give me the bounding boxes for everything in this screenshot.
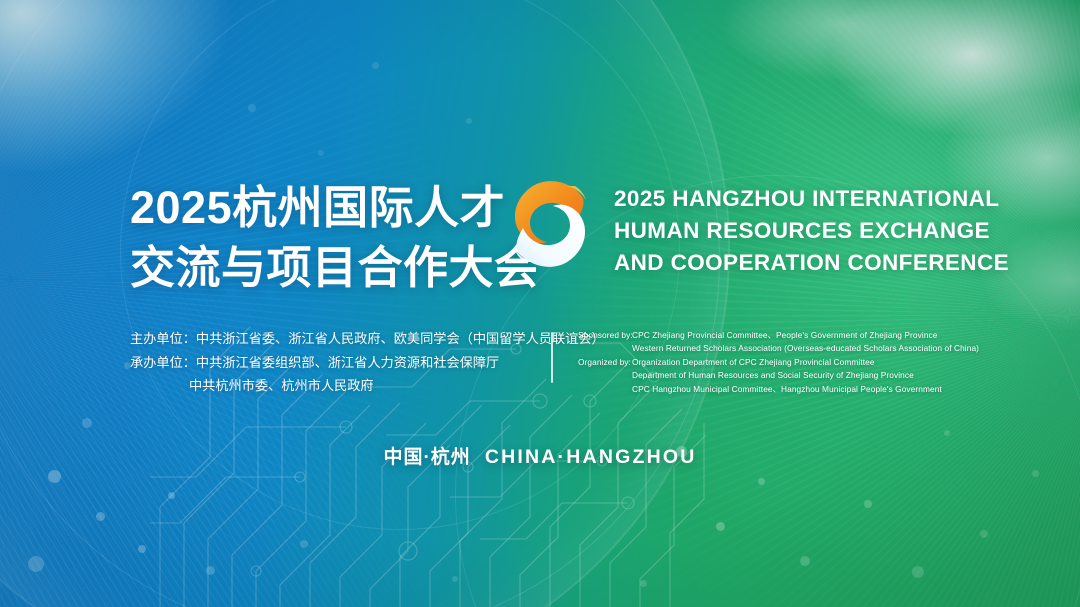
conference-poster: 2025杭州国际人才 交流与项目合作大会 (0, 0, 1080, 607)
title-english-line-1: 2025 HANGZHOU INTERNATIONAL (614, 183, 1009, 215)
sponsored-by-line-1: CPC Zhejiang Provincial Committee、People… (632, 330, 938, 340)
location-chinese: 中国·杭州 (383, 447, 470, 468)
location-english: CHINA·HANGZHOU (485, 446, 697, 468)
organized-by-line-1: Organization Department of CPC Zhejiang … (632, 357, 875, 367)
title-english: 2025 HANGZHOU INTERNATIONAL HUMAN RESOUR… (614, 183, 1009, 280)
vertical-divider (551, 332, 553, 383)
sponsored-by-label: Sponsored by: (578, 329, 632, 342)
organized-by-line-2: Department of Human Resources and Social… (578, 369, 979, 382)
organizer-cn-line-3: 中共杭州市委、杭州市人民政府 (130, 374, 605, 398)
organizers-chinese: 主办单位：中共浙江省委、浙江省人民政府、欧美同学会（中国留学人员联谊会） 承办单… (130, 327, 605, 398)
organizer-cn-line-2: 承办单位：中共浙江省委组织部、浙江省人力资源和社会保障厅 (130, 351, 605, 375)
organized-by-label: Organized by: (578, 356, 632, 369)
title-chinese-line-1: 2025杭州国际人才 (130, 178, 540, 238)
title-english-line-2: HUMAN RESOURCES EXCHANGE (614, 215, 1009, 247)
title-english-line-3: AND COOPERATION CONFERENCE (614, 247, 1009, 279)
organizer-cn-line-1: 主办单位：中共浙江省委、浙江省人民政府、欧美同学会（中国留学人员联谊会） (130, 327, 605, 351)
organized-by-row: Organized by:Organization Department of … (578, 356, 979, 369)
organized-by-line-3: CPC Hangzhou Municipal Committee、Hangzho… (578, 383, 979, 396)
title-chinese-line-2: 交流与项目合作大会 (130, 238, 540, 298)
organizers-english: Sponsored by:CPC Zhejiang Provincial Com… (578, 329, 979, 396)
title-chinese: 2025杭州国际人才 交流与项目合作大会 (130, 178, 540, 298)
poster-content: 2025杭州国际人才 交流与项目合作大会 (0, 0, 1080, 607)
conference-swirl-logo (497, 168, 601, 278)
sponsored-by-line-2: Western Returned Scholars Association (O… (578, 342, 979, 355)
location-banner: 中国·杭州CHINA·HANGZHOU (0, 442, 1080, 469)
sponsored-by-row: Sponsored by:CPC Zhejiang Provincial Com… (578, 329, 979, 342)
